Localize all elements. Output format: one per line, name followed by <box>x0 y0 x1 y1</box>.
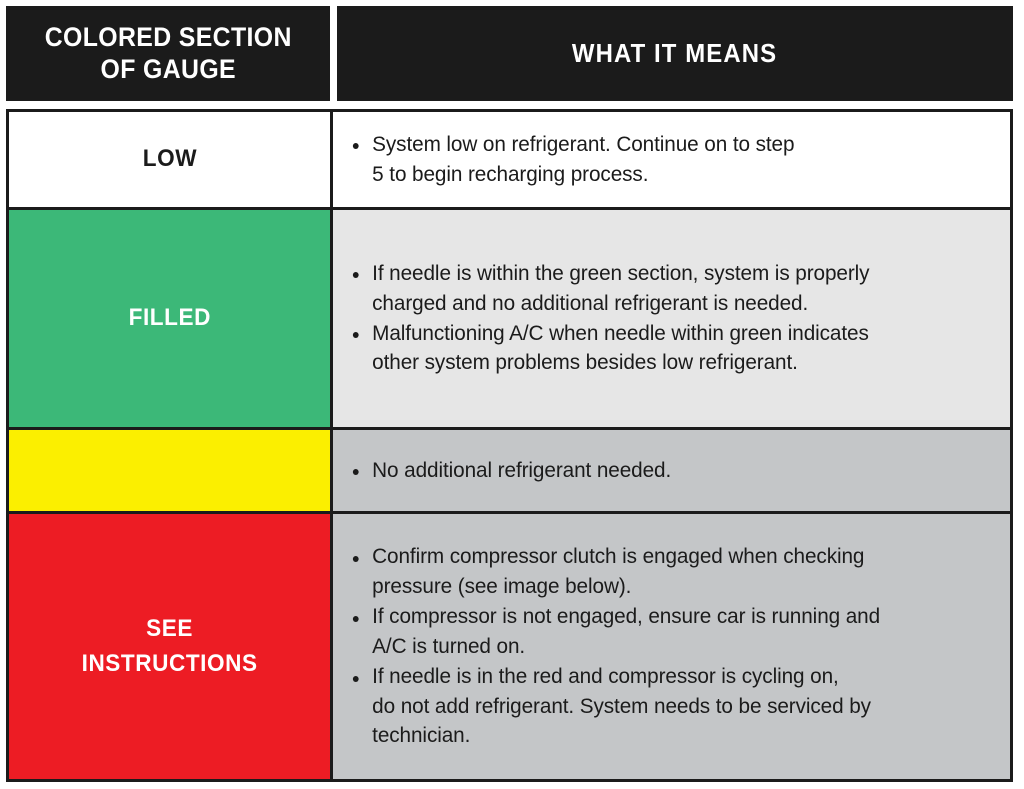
bullet-list-see-instructions: Confirm compressor clutch is engaged whe… <box>349 542 992 750</box>
means-cell-filled: If needle is within the green section, s… <box>333 210 1010 427</box>
bullet-list-filled: If needle is within the green section, s… <box>349 259 992 378</box>
list-item: If compressor is not engaged, ensure car… <box>349 602 969 661</box>
bullet-list-low: System low on refrigerant. Continue on t… <box>349 130 992 189</box>
list-item: Malfunctioning A/C when needle within gr… <box>349 319 969 378</box>
bullet-dot-icon <box>353 143 359 149</box>
swatch-cell-see-instructions: SEE INSTRUCTIONS <box>9 514 333 779</box>
gauge-reference-table: COLORED SECTION OF GAUGE WHAT IT MEANS L… <box>0 0 1024 789</box>
bullet-dot-icon <box>353 272 359 278</box>
bullet-text: Confirm compressor clutch is engaged whe… <box>372 544 864 597</box>
table-row: SEE INSTRUCTIONS Confirm compressor clut… <box>9 514 1010 779</box>
swatch-cell-yellow <box>9 430 333 511</box>
means-cell-yellow: No additional refrigerant needed. <box>333 430 1010 511</box>
bullet-text: System low on refrigerant. Continue on t… <box>372 132 794 185</box>
table-row: FILLED If needle is within the green sec… <box>9 210 1010 430</box>
list-item: Confirm compressor clutch is engaged whe… <box>349 542 969 601</box>
table-body: LOW System low on refrigerant. Continue … <box>6 109 1013 782</box>
swatch-label-see-instructions: SEE INSTRUCTIONS <box>82 612 258 680</box>
swatch-cell-low: LOW <box>9 112 333 207</box>
list-item: If needle is in the red and compressor i… <box>349 662 969 750</box>
header-cell-what-it-means: WHAT IT MEANS <box>337 6 1013 101</box>
swatch-label-low: LOW <box>142 142 196 176</box>
bullet-dot-icon <box>353 616 359 622</box>
header-title-what-it-means: WHAT IT MEANS <box>572 38 777 69</box>
table-row: No additional refrigerant needed. <box>9 430 1010 514</box>
bullet-dot-icon <box>353 332 359 338</box>
bullet-dot-icon <box>353 676 359 682</box>
list-item: No additional refrigerant needed. <box>349 456 969 485</box>
bullet-text: If needle is within the green section, s… <box>372 261 869 314</box>
bullet-dot-icon <box>353 556 359 562</box>
header-cell-colored-section: COLORED SECTION OF GAUGE <box>6 6 330 101</box>
swatch-label-filled: FILLED <box>128 301 210 335</box>
header-title-colored-section: COLORED SECTION OF GAUGE <box>44 22 291 86</box>
bullet-text: If compressor is not engaged, ensure car… <box>372 604 880 657</box>
bullet-dot-icon <box>353 469 359 475</box>
table-row: LOW System low on refrigerant. Continue … <box>9 112 1010 210</box>
means-cell-see-instructions: Confirm compressor clutch is engaged whe… <box>333 514 1010 779</box>
swatch-cell-filled: FILLED <box>9 210 333 427</box>
bullet-list-yellow: No additional refrigerant needed. <box>349 456 992 485</box>
means-cell-low: System low on refrigerant. Continue on t… <box>333 112 1010 207</box>
bullet-text: Malfunctioning A/C when needle within gr… <box>372 321 869 374</box>
list-item: If needle is within the green section, s… <box>349 259 969 318</box>
table-header-row: COLORED SECTION OF GAUGE WHAT IT MEANS <box>6 6 1013 101</box>
bullet-text: If needle is in the red and compressor i… <box>372 664 871 747</box>
list-item: System low on refrigerant. Continue on t… <box>349 130 969 189</box>
bullet-text: No additional refrigerant needed. <box>372 458 671 482</box>
